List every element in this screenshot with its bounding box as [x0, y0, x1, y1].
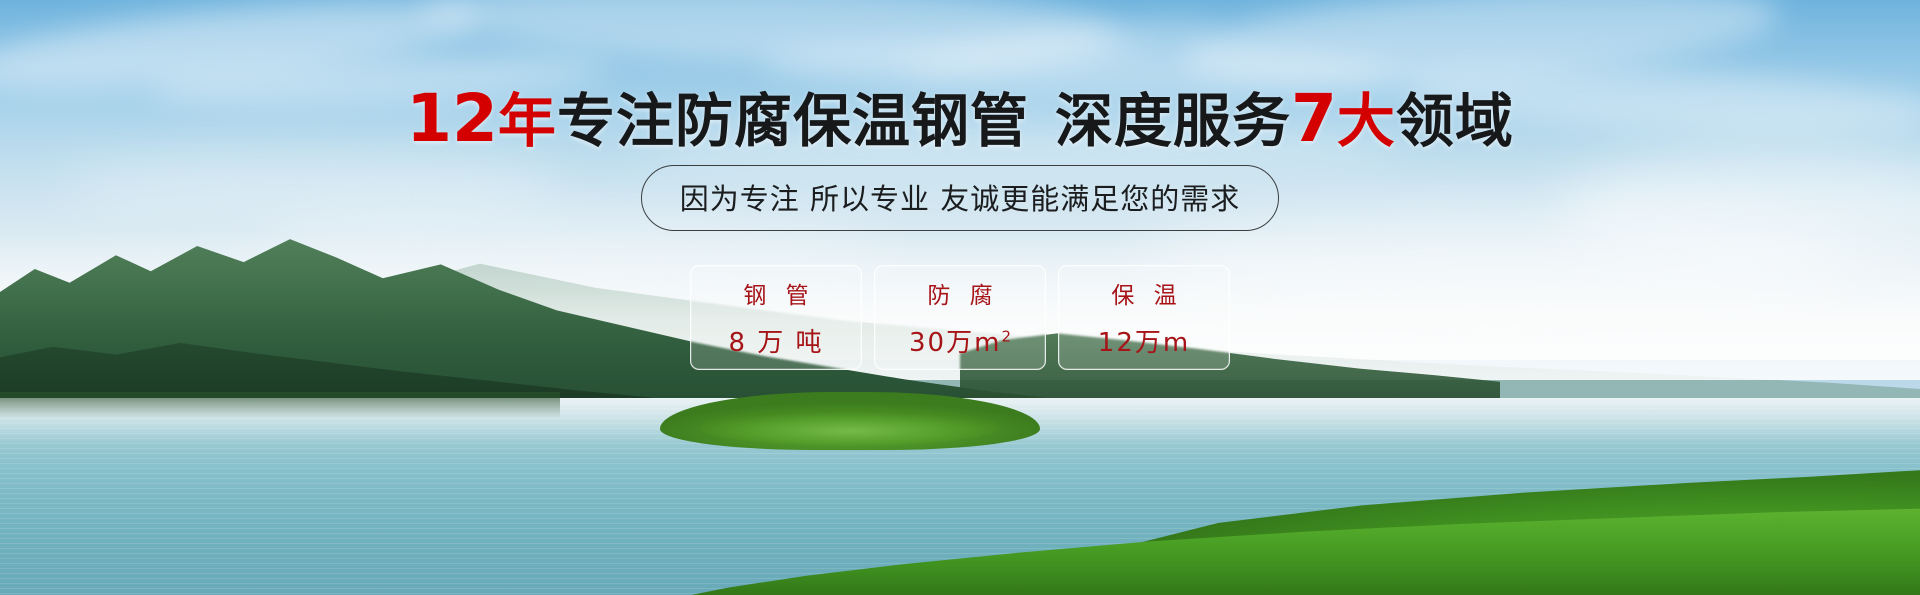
stat-card-value: 30万m2	[909, 322, 1011, 359]
headline-phrase-three: 领域	[1396, 87, 1514, 155]
stat-card-title: 保 温	[1105, 276, 1182, 310]
banner-subtitle-pill: 因为专注 所以专业 友诚更能满足您的需求	[641, 165, 1279, 231]
banner-content: 12年专注防腐保温钢管深度服务7大领域 因为专注 所以专业 友诚更能满足您的需求…	[0, 0, 1920, 595]
headline-years-unit: 年	[498, 87, 557, 155]
stat-card-value-superscript: 2	[1001, 327, 1011, 345]
stat-card-value: 8 万 吨	[728, 322, 823, 359]
headline-fields-number: 7	[1291, 80, 1337, 157]
banner-headline: 12年专注防腐保温钢管深度服务7大领域	[0, 84, 1920, 153]
headline-years-number: 12	[406, 80, 498, 157]
banner-subtitle-container: 因为专注 所以专业 友诚更能满足您的需求	[0, 165, 1920, 231]
headline-fields-unit: 大	[1337, 87, 1396, 155]
stat-card-title: 钢 管	[737, 276, 814, 310]
stat-card-title: 防 腐	[921, 276, 998, 310]
headline-phrase-two: 深度服务	[1055, 87, 1291, 155]
stat-card-value-text: 30万m	[909, 328, 1001, 358]
stat-card-anticorrosion[interactable]: 防 腐 30万m2	[874, 265, 1046, 370]
stat-card-group: 钢 管 8 万 吨 防 腐 30万m2 保 温 12万m	[0, 265, 1920, 370]
stat-card-value: 12万m	[1098, 322, 1190, 359]
promo-banner: 12年专注防腐保温钢管深度服务7大领域 因为专注 所以专业 友诚更能满足您的需求…	[0, 0, 1920, 595]
stat-card-steel-pipe[interactable]: 钢 管 8 万 吨	[690, 265, 862, 370]
headline-phrase-one: 专注防腐保温钢管	[557, 87, 1029, 155]
stat-card-insulation[interactable]: 保 温 12万m	[1058, 265, 1230, 370]
